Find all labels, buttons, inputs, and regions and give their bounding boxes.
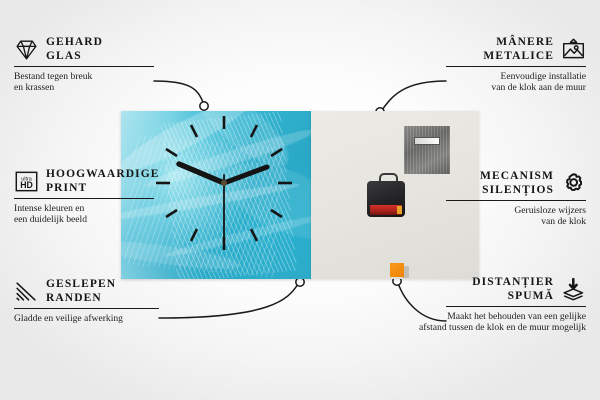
spacer-press-icon	[561, 277, 586, 302]
feature-description: Maakt het behouden van een gelijke afsta…	[386, 311, 586, 334]
feature-rule	[14, 66, 154, 67]
diamond-icon	[14, 37, 39, 62]
feature-hoogwaardige-print: ultra HD HOOGWAARDIGE PRINT Intense kleu…	[14, 168, 214, 226]
feature-description: Bestand tegen breuk en krassen	[14, 71, 214, 94]
feature-title: GEHARD GLAS	[46, 36, 103, 63]
ultra-hd-icon-bottom: HD	[20, 180, 33, 190]
feature-rule	[446, 66, 586, 67]
feature-manere-metalice: MÂNERE METALICE Eenvoudige installatie v…	[386, 36, 586, 94]
feature-description: Eenvoudige installatie van de klok aan d…	[386, 71, 586, 94]
clock-center-cap	[221, 180, 227, 186]
feature-title: MÂNERE METALICE	[483, 36, 554, 63]
feature-title: GESLEPEN RANDEN	[46, 278, 116, 305]
feature-description: Geruisloze wijzers van de klok	[386, 205, 586, 228]
framed-picture-icon	[561, 37, 586, 62]
ultra-hd-icon: ultra HD	[14, 169, 39, 194]
feature-mecanism-silentios: MECANISM SILENȚIOS Geruisloze wijzers va…	[386, 170, 586, 228]
feature-title: DISTANȚIER SPUMĂ	[472, 276, 554, 303]
metal-hanger-plate	[404, 126, 450, 174]
gear-icon	[561, 171, 586, 196]
feature-title: HOOGWAARDIGE PRINT	[46, 168, 160, 195]
feature-geslepen-randen: GESLEPEN RANDEN Gladde en veilige afwerk…	[14, 278, 219, 324]
feature-title: MECANISM SILENȚIOS	[480, 170, 554, 197]
feature-gehard-glas: GEHARD GLAS Bestand tegen breuk en krass…	[14, 36, 214, 94]
connector-dot-gehard-glas	[200, 102, 208, 110]
hanger-slot	[414, 137, 440, 145]
feature-rule	[14, 198, 154, 199]
connector-dot-geslepen-randen	[296, 278, 304, 286]
feature-distantier-spuma: DISTANȚIER SPUMĂ Maakt het behouden van …	[386, 276, 586, 334]
feature-description: Intense kleuren en een duidelijk beeld	[14, 203, 214, 226]
feature-rule	[446, 306, 586, 307]
foam-spacer	[390, 263, 404, 277]
clock-minute-hand	[224, 167, 267, 183]
feature-description: Gladde en veilige afwerking	[14, 313, 219, 325]
feature-rule	[14, 308, 159, 309]
infographic-canvas: GEHARD GLAS Bestand tegen breuk en krass…	[0, 0, 600, 400]
feature-rule	[446, 200, 586, 201]
bevelled-edge-icon	[14, 279, 39, 304]
